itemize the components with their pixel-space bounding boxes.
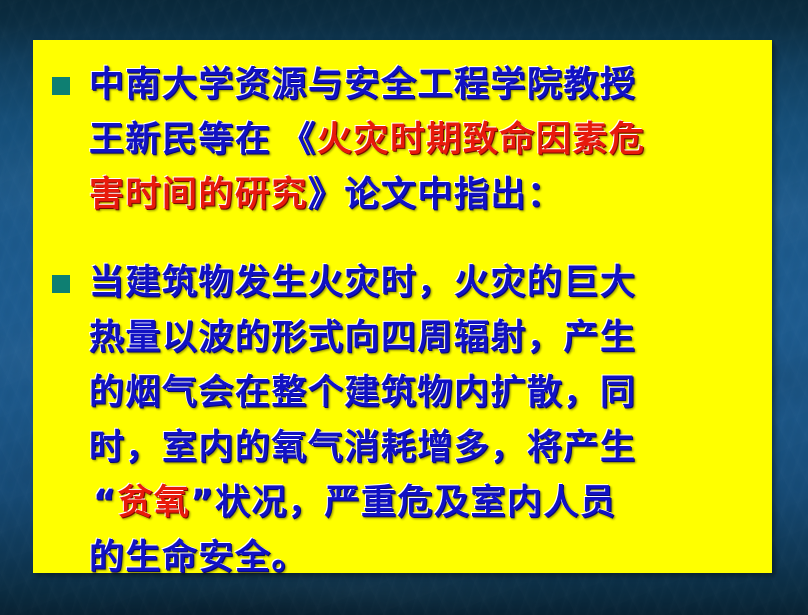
text-line: 中南大学资源与安全工程学院教授 [89, 58, 762, 113]
text-run-highlight: 贫氧 [118, 483, 191, 523]
text-run-highlight: 火灾时期致命因素危 [317, 120, 646, 160]
text-run: 当建筑物发生火灾时，火灾的巨大 [89, 263, 637, 303]
text-line: 当建筑物发生火灾时，火灾的巨大 [89, 256, 762, 311]
text-run: 状况，严重危及室内人员 [215, 483, 617, 523]
text-line: 的烟气会在整个建筑物内扩散，同 [89, 366, 762, 421]
square-bullet-icon [52, 275, 70, 293]
text-run-bracket-close: 》 [308, 175, 345, 215]
presentation-slide: 中南大学资源与安全工程学院教授 王新民等在《火灾时期致命因素危 害时间的研究》论… [0, 0, 808, 615]
text-run: 时，室内的氧气消耗增多，将产生 [89, 428, 637, 468]
text-run: 论文中指出： [345, 175, 564, 215]
text-line: 王新民等在《火灾时期致命因素危 [89, 113, 762, 168]
text-run-quote-close: ” [191, 483, 216, 523]
text-run: 热量以波的形式向四周辐射，产生 [89, 318, 637, 358]
text-run: 的烟气会在整个建筑物内扩散，同 [89, 373, 637, 413]
text-line: 热量以波的形式向四周辐射，产生 [89, 311, 762, 366]
text-line: 害时间的研究》论文中指出： [89, 168, 762, 223]
text-run-bracket-open: 《 [281, 120, 318, 160]
text-run: 的生命安全。 [89, 538, 308, 578]
text-run: 王新民等在 [89, 120, 272, 160]
text-run-quote-open: “ [93, 483, 118, 523]
bullet-paragraph-2: 当建筑物发生火灾时，火灾的巨大 热量以波的形式向四周辐射，产生 的烟气会在整个建… [43, 256, 762, 586]
text-run-highlight: 害时间的研究 [89, 175, 308, 215]
text-line: “贫氧”状况，严重危及室内人员 [89, 476, 762, 531]
yellow-content-panel: 中南大学资源与安全工程学院教授 王新民等在《火灾时期致命因素危 害时间的研究》论… [33, 40, 772, 573]
text-run: 中南大学资源与安全工程学院教授 [89, 65, 637, 105]
text-line: 时，室内的氧气消耗增多，将产生 [89, 421, 762, 476]
text-line: 的生命安全。 [89, 531, 762, 586]
bullet-paragraph-1: 中南大学资源与安全工程学院教授 王新民等在《火灾时期致命因素危 害时间的研究》论… [43, 58, 762, 223]
square-bullet-icon [52, 77, 70, 95]
